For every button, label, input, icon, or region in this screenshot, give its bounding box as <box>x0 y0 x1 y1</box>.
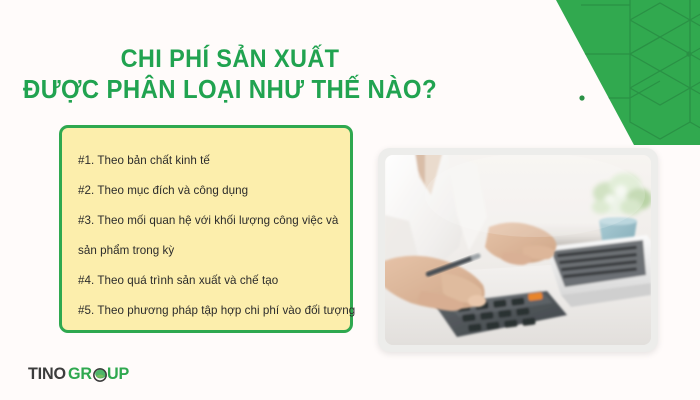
page-title-line-1: CHI PHÍ SẢN XUẤT <box>14 44 446 75</box>
list-item: #4. Theo quá trình sản xuất và chế tạo <box>78 266 334 296</box>
corner-decoration <box>430 0 700 145</box>
hexagon-pattern <box>581 0 700 139</box>
list-item: #1. Theo bản chất kinh tế <box>78 146 334 176</box>
page-title-line-2: ĐƯỢC PHÂN LOẠI NHƯ THẾ NÀO? <box>14 75 446 106</box>
page-title: CHI PHÍ SẢN XUẤT ĐƯỢC PHÂN LOẠI NHƯ THẾ … <box>0 44 460 106</box>
hexagon-node-dots <box>579 51 691 100</box>
logo-text-gr: GR <box>68 364 92 384</box>
corner-triangle <box>556 0 700 145</box>
logo-text-up: UP <box>107 364 129 384</box>
photo-frame <box>378 148 658 352</box>
classification-list-card: #1. Theo bản chất kinh tế #2. Theo mục đ… <box>59 125 353 333</box>
list-item: #2. Theo mục đích và công dụng <box>78 176 334 206</box>
list-item-continuation: sản phẩm trong kỳ <box>78 236 334 266</box>
tino-group-logo[interactable]: TINO GR UP <box>28 364 130 384</box>
globe-leaf-icon <box>93 368 107 382</box>
office-calculator-photo <box>385 155 651 345</box>
logo-text-tino: TINO <box>28 364 66 384</box>
list-item: #3. Theo mối quan hệ với khối lượng công… <box>78 206 334 236</box>
list-item: #5. Theo phương pháp tập hợp chi phí vào… <box>78 296 334 326</box>
